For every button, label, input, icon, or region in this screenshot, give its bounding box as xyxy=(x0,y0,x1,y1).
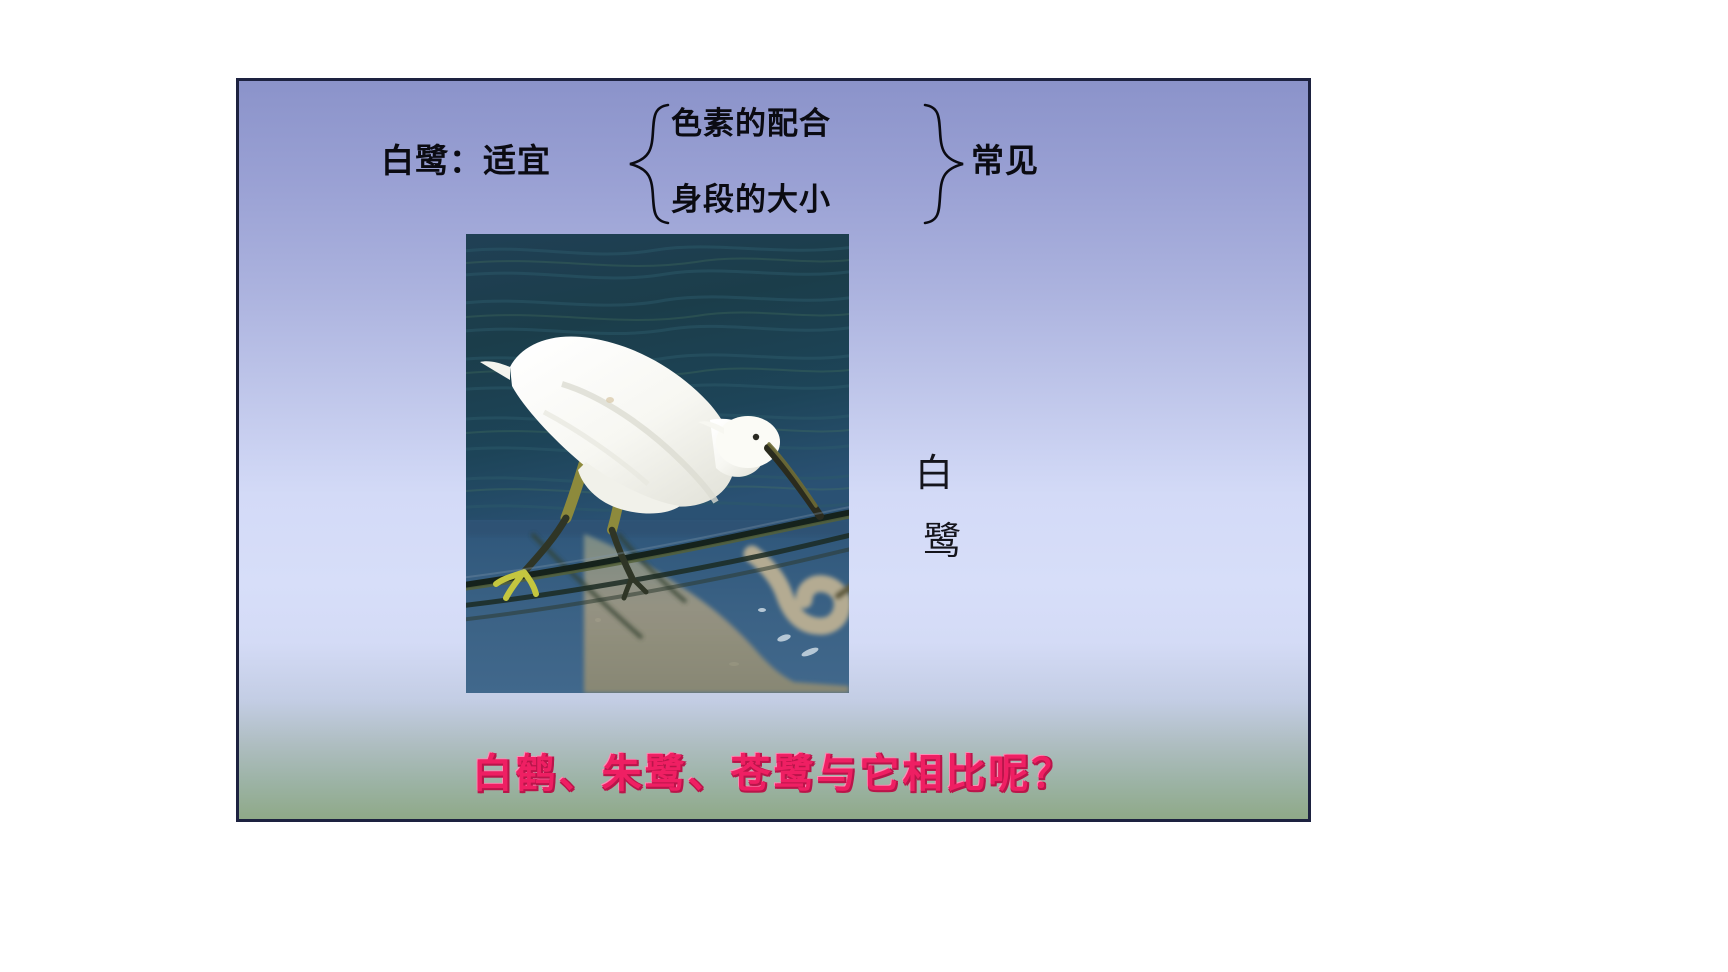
egret-photo xyxy=(466,234,849,693)
egret-photo-illustration xyxy=(466,234,849,693)
left-curly-brace-icon xyxy=(624,101,670,227)
bottom-question-text: 白鹤、朱鹭、苍鹭与它相比呢？ xyxy=(239,741,1308,799)
caption-char-first: 白 xyxy=(899,439,969,507)
diagram-tail-label: 常见 xyxy=(971,141,1039,181)
concept-brace-diagram: 白鹭：适宜 色素的配合 身段的大小 常见 xyxy=(299,99,1289,229)
presentation-slide: 白鹭：适宜 色素的配合 身段的大小 常见 xyxy=(236,78,1311,822)
diagram-branch-bottom-label: 身段的大小 xyxy=(671,181,831,219)
caption-char-second: 鹭 xyxy=(915,507,969,575)
diagram-lead-label: 白鹭：适宜 xyxy=(381,141,551,181)
right-curly-brace-icon xyxy=(923,101,969,227)
egret-caption-vertical: 白 鹭 xyxy=(899,439,969,575)
diagram-branch-top-label: 色素的配合 xyxy=(671,105,831,143)
